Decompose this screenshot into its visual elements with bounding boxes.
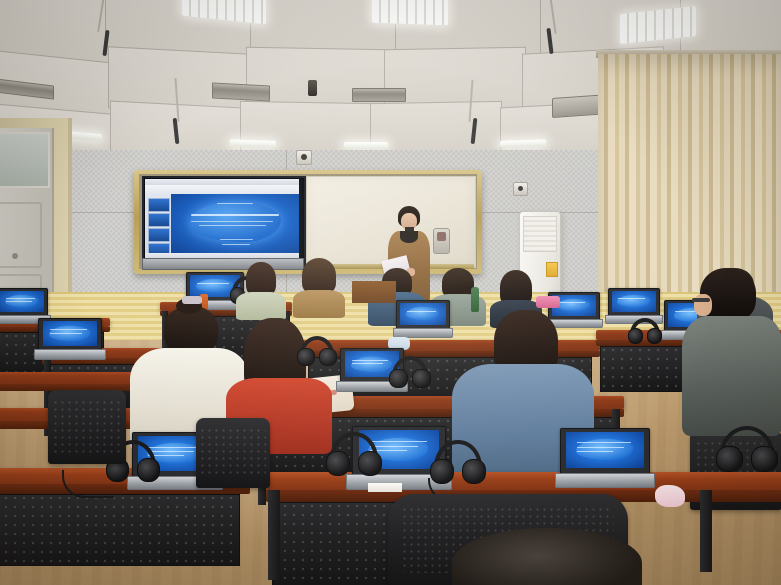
laptop-slide-text	[197, 283, 229, 284]
laptop-base	[555, 473, 656, 488]
paper-stack[interactable]	[368, 483, 402, 492]
ceiling-camera-icon	[296, 150, 312, 165]
laptop-slide-text	[148, 447, 200, 448]
presenter-collar	[400, 231, 418, 243]
student-laptop[interactable]	[608, 288, 658, 322]
air-vent	[352, 88, 406, 102]
wall-camera-icon	[513, 182, 528, 196]
laptop-slide-text	[407, 311, 436, 312]
laptop-slide-text	[352, 363, 383, 364]
air-conditioner-panel[interactable]	[546, 262, 558, 277]
classroom-photo	[0, 0, 781, 585]
desk-leg	[700, 490, 712, 572]
laptop-lid	[608, 288, 660, 317]
student-foreground-head	[452, 528, 642, 585]
ceiling-light-panel	[372, 0, 448, 25]
student-mid-tan	[296, 258, 342, 314]
headset[interactable]	[330, 432, 378, 476]
headset[interactable]	[392, 356, 428, 388]
laptop-slide-text	[352, 360, 388, 361]
headset-earcup	[137, 458, 160, 482]
laptop-screen	[612, 291, 656, 312]
door-panel	[0, 202, 42, 268]
glasses-icon	[692, 298, 710, 302]
lectern	[352, 281, 396, 303]
slide-title-text	[191, 214, 278, 216]
office-chair[interactable]	[48, 390, 126, 464]
headset-earcup	[716, 446, 743, 472]
headset[interactable]	[720, 426, 774, 472]
headset-earcup	[628, 328, 644, 344]
headset-earcup	[751, 446, 778, 472]
headset-earcup	[358, 451, 382, 476]
laptop-slide-blob	[406, 307, 440, 320]
laptop-slide-text	[618, 298, 645, 299]
water-bottle-green[interactable]	[471, 287, 479, 312]
laptop-slide-text	[6, 298, 35, 299]
student-laptop[interactable]	[0, 288, 46, 322]
desk-modesty-panel	[0, 494, 240, 566]
headset-earcup	[412, 369, 431, 388]
headset-earcup	[319, 348, 337, 366]
student-laptop[interactable]	[38, 318, 100, 358]
slide-byline-text	[220, 239, 253, 240]
student-laptop[interactable]	[396, 300, 448, 336]
student-grey-right	[676, 268, 781, 448]
slide-byline-text	[222, 244, 250, 245]
student-jacket	[682, 316, 781, 436]
slide-thumbnail[interactable]	[148, 228, 170, 242]
headset-earcup	[647, 328, 663, 344]
laptop-screen	[566, 432, 643, 468]
student-hair	[246, 262, 276, 296]
laptop-slide-blob	[617, 295, 650, 307]
laptop-slide-blob	[196, 279, 232, 292]
laptop-slide-text	[558, 302, 585, 303]
laptop-slide-text	[50, 329, 87, 330]
headset-earcup	[326, 451, 350, 476]
ppt-slide-thumbnail-panel[interactable]	[145, 194, 171, 253]
student-hair	[452, 528, 642, 585]
laptop-screen	[0, 291, 44, 312]
laptop-base	[34, 349, 105, 360]
laptop-screen	[43, 321, 98, 346]
laptop-lid	[38, 318, 102, 351]
laptop-slide-text	[577, 451, 613, 452]
laptop-slide-text	[6, 301, 32, 302]
ceiling-tile	[370, 101, 502, 156]
hair-clip	[182, 296, 202, 304]
slide-subtitle-text	[191, 221, 273, 222]
slide-thumbnail[interactable]	[148, 198, 170, 212]
laptop-lid	[0, 288, 48, 317]
desk-leg	[268, 490, 280, 580]
air-vent	[212, 82, 270, 101]
pink-pouch[interactable]	[536, 296, 560, 308]
ppt-ribbon	[145, 185, 299, 194]
headset[interactable]	[300, 336, 334, 366]
ceiling-light-panel	[344, 142, 388, 149]
laptop-lid	[396, 300, 450, 330]
door-knob[interactable]	[12, 253, 18, 259]
slide-blob-graphic	[189, 202, 281, 242]
laptop-slide-text	[50, 333, 82, 334]
chair-mesh	[200, 428, 265, 478]
headset-earcup	[389, 369, 408, 388]
laptop-slide-text	[577, 447, 623, 448]
chair-mesh	[53, 400, 122, 453]
ceiling-speaker	[308, 80, 317, 96]
current-slide	[171, 194, 299, 253]
student-laptop[interactable]	[560, 428, 648, 486]
slide-thumbnail[interactable]	[148, 213, 170, 227]
laptop-slide-text	[577, 442, 631, 443]
headset-earcup	[297, 348, 315, 366]
door-window	[0, 132, 50, 188]
laptop-lid	[560, 428, 650, 475]
presentation-screen[interactable]	[145, 179, 299, 259]
laptop-screen	[400, 303, 446, 325]
laptop-slide-text	[370, 441, 427, 442]
student-hair	[302, 258, 336, 294]
headset[interactable]	[630, 318, 660, 344]
student-jacket	[293, 290, 345, 318]
office-chair[interactable]	[196, 418, 270, 488]
tissue-pack[interactable]	[655, 485, 685, 507]
air-conditioner-grille	[523, 216, 557, 252]
